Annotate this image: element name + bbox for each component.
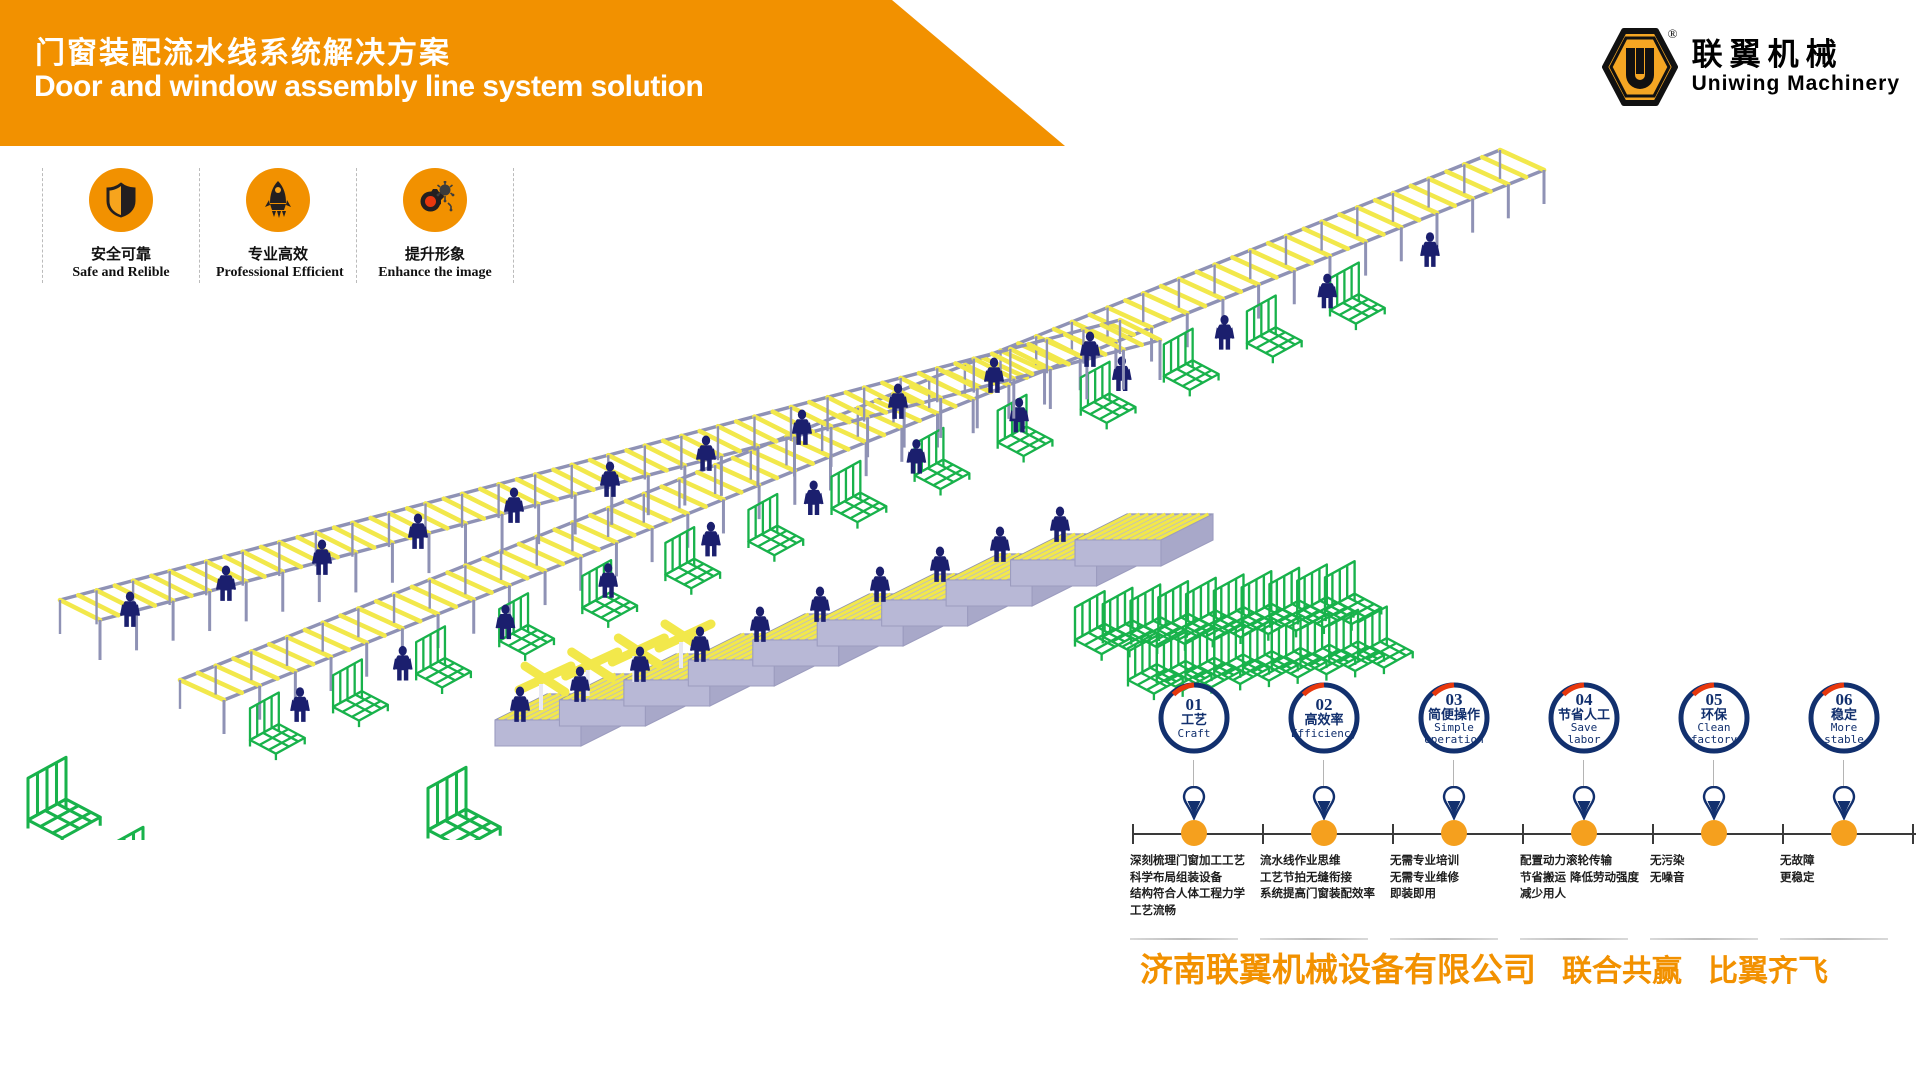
worker-figure: [701, 522, 721, 557]
worker-figure: [290, 687, 310, 722]
timeline-dot: [1701, 820, 1727, 846]
benefit-description-line: 深刻梳理门窗加工工艺: [1130, 852, 1262, 869]
footer-slogan: 济南联翼机械设备有限公司 联合共赢 比翼齐飞: [1140, 943, 1920, 991]
benefit-number: 04: [1576, 691, 1593, 709]
timeline-tick: [1262, 824, 1264, 844]
material-trolley: [333, 659, 388, 727]
map-pin-icon: [1442, 786, 1466, 820]
worker-figure: [216, 566, 236, 601]
page-title-en: Door and window assembly line system sol…: [34, 70, 703, 104]
worker-figure: [1215, 315, 1235, 350]
material-trolley: [428, 767, 500, 840]
benefit-title-en: Cleanfactory: [1691, 722, 1737, 745]
benefit-number: 01: [1186, 696, 1203, 714]
benefit-divider: [1130, 938, 1238, 940]
brand-name-en: Uniwing Machinery: [1692, 73, 1900, 95]
benefits-timeline: 01工艺Craft深刻梳理门窗加工工艺科学布局组装设备结构符合人体工程力学工艺流…: [1130, 680, 1920, 970]
benefit-number: 03: [1446, 691, 1463, 709]
timeline-tick: [1392, 824, 1394, 844]
benefit-description: 配置动力滚轮传输节省搬运 降低劳动强度减少用人: [1520, 852, 1652, 902]
benefit-description-line: 工艺节拍无缝衔接: [1260, 869, 1392, 886]
map-pin-icon: [1832, 786, 1856, 820]
timeline-axis: [1134, 833, 1916, 835]
timeline-tick: [1132, 824, 1134, 844]
material-trolley: [1164, 329, 1219, 397]
benefit-title-en: Morestable: [1824, 722, 1864, 745]
material-trolley: [1247, 296, 1302, 364]
benefit-description-line: 无污染: [1650, 852, 1782, 869]
registered-trademark-icon: ®: [1668, 26, 1678, 42]
worker-figure: [907, 439, 927, 474]
benefit-node-01[interactable]: 01工艺Craft深刻梳理门窗加工工艺科学布局组装设备结构符合人体工程力学工艺流…: [1130, 680, 1258, 756]
benefit-node-04[interactable]: 04节省人工Savelabor配置动力滚轮传输节省搬运 降低劳动强度减少用人: [1520, 680, 1648, 756]
benefit-connector-line: [1713, 760, 1714, 788]
worker-figure: [804, 480, 824, 515]
map-pin-icon: [1312, 786, 1336, 820]
brand-logo: ® 联翼机械 Uniwing Machinery: [1602, 28, 1900, 106]
worker-figure: [393, 646, 413, 681]
benefit-connector-line: [1843, 760, 1844, 788]
poster-page: 门窗装配流水线系统解决方案 Door and window assembly l…: [0, 0, 1920, 1080]
benefit-description-line: 结构符合人体工程力学: [1130, 885, 1262, 902]
benefit-description-line: 更稳定: [1780, 869, 1912, 886]
timeline-dot: [1181, 820, 1207, 846]
benefit-title-en: Efficiency: [1291, 728, 1357, 740]
benefit-title-cn: 节省人工: [1558, 709, 1610, 723]
benefit-connector-line: [1453, 760, 1454, 788]
timeline-tick: [1912, 824, 1914, 844]
map-pin-icon: [1572, 786, 1596, 820]
benefit-description-line: 流水线作业思维: [1260, 852, 1392, 869]
benefit-divider: [1390, 938, 1498, 940]
benefit-description: 流水线作业思维工艺节拍无缝衔接系统提高门窗装配效率: [1260, 852, 1392, 902]
brand-text: 联翼机械 Uniwing Machinery: [1692, 39, 1900, 96]
benefit-node-02[interactable]: 02高效率Efficiency流水线作业思维工艺节拍无缝衔接系统提高门窗装配效率: [1260, 680, 1388, 756]
material-trolley: [105, 827, 177, 840]
benefit-description-line: 无需专业培训: [1390, 852, 1522, 869]
benefit-title-en: Savelabor: [1567, 722, 1600, 745]
benefit-title-en: Craft: [1177, 728, 1210, 740]
benefit-description-line: 即装即用: [1390, 885, 1522, 902]
timeline-dot: [1831, 820, 1857, 846]
benefit-ring-icon: 04节省人工Savelabor: [1546, 680, 1622, 756]
benefit-node-03[interactable]: 03简便操作Simpleoperation无需专业培训无需专业维修即装即用: [1390, 680, 1518, 756]
material-trolley: [416, 626, 471, 694]
benefit-connector-line: [1193, 760, 1194, 788]
map-pin-icon: [1182, 786, 1206, 820]
benefit-number: 05: [1706, 691, 1723, 709]
page-title-cn: 门窗装配流水线系统解决方案: [35, 28, 451, 72]
benefit-description-line: 无噪音: [1650, 869, 1782, 886]
benefit-node-05[interactable]: 05环保Cleanfactory无污染无噪音: [1650, 680, 1778, 756]
company-name: 济南联翼机械设备有限公司: [1140, 943, 1536, 991]
benefit-title-cn: 环保: [1701, 709, 1727, 723]
timeline-dot: [1441, 820, 1467, 846]
benefit-description-line: 无需专业维修: [1390, 869, 1522, 886]
benefit-description-line: 节省搬运 降低劳动强度: [1520, 869, 1652, 886]
benefit-number: 06: [1836, 691, 1853, 709]
timeline-tick: [1782, 824, 1784, 844]
benefit-description-line: 减少用人: [1520, 885, 1652, 902]
timeline-tick: [1652, 824, 1654, 844]
benefit-title-cn: 稳定: [1831, 709, 1857, 723]
benefit-description-line: 科学布局组装设备: [1130, 869, 1262, 886]
slogan-part-2: 比翼齐飞: [1708, 946, 1828, 990]
benefit-ring-icon: 02高效率Efficiency: [1286, 680, 1362, 756]
brand-name-cn: 联翼机械: [1692, 39, 1900, 72]
timeline-dot: [1311, 820, 1337, 846]
benefit-description: 无需专业培训无需专业维修即装即用: [1390, 852, 1522, 902]
benefit-description-line: 配置动力滚轮传输: [1520, 852, 1652, 869]
benefit-title-cn: 工艺: [1181, 714, 1207, 728]
benefit-title-cn: 高效率: [1304, 714, 1343, 728]
timeline-dot: [1571, 820, 1597, 846]
benefit-description-line: 无故障: [1780, 852, 1912, 869]
benefit-number: 02: [1316, 696, 1333, 714]
benefit-title-en: Simpleoperation: [1424, 722, 1484, 745]
benefit-divider: [1650, 938, 1758, 940]
material-trolley: [832, 461, 887, 529]
benefit-ring-icon: 06稳定Morestable: [1806, 680, 1882, 756]
timeline-tick: [1522, 824, 1524, 844]
benefit-description-line: 系统提高门窗装配效率: [1260, 885, 1392, 902]
benefit-ring-icon: 05环保Cleanfactory: [1676, 680, 1752, 756]
benefit-ring-icon: 01工艺Craft: [1156, 680, 1232, 756]
benefit-ring-icon: 03简便操作Simpleoperation: [1416, 680, 1492, 756]
material-trolley: [28, 757, 100, 840]
benefit-divider: [1780, 938, 1888, 940]
hexagon-u-logo-icon: ®: [1602, 28, 1678, 106]
benefit-connector-line: [1323, 760, 1324, 788]
benefit-description: 无故障更稳定: [1780, 852, 1912, 885]
benefit-node-06[interactable]: 06稳定Morestable无故障更稳定: [1780, 680, 1908, 756]
worker-figure: [1317, 274, 1337, 309]
map-pin-icon: [1702, 786, 1726, 820]
material-trolley: [998, 395, 1053, 463]
slogan-part-1: 联合共赢: [1562, 946, 1682, 990]
benefit-connector-line: [1583, 760, 1584, 788]
benefit-description: 深刻梳理门窗加工工艺科学布局组装设备结构符合人体工程力学工艺流畅: [1130, 852, 1262, 919]
benefit-title-cn: 简便操作: [1428, 709, 1480, 723]
benefit-divider: [1520, 938, 1628, 940]
benefit-description-line: 工艺流畅: [1130, 902, 1262, 919]
benefit-description: 无污染无噪音: [1650, 852, 1782, 885]
material-trolley: [1330, 262, 1385, 330]
benefit-divider: [1260, 938, 1368, 940]
